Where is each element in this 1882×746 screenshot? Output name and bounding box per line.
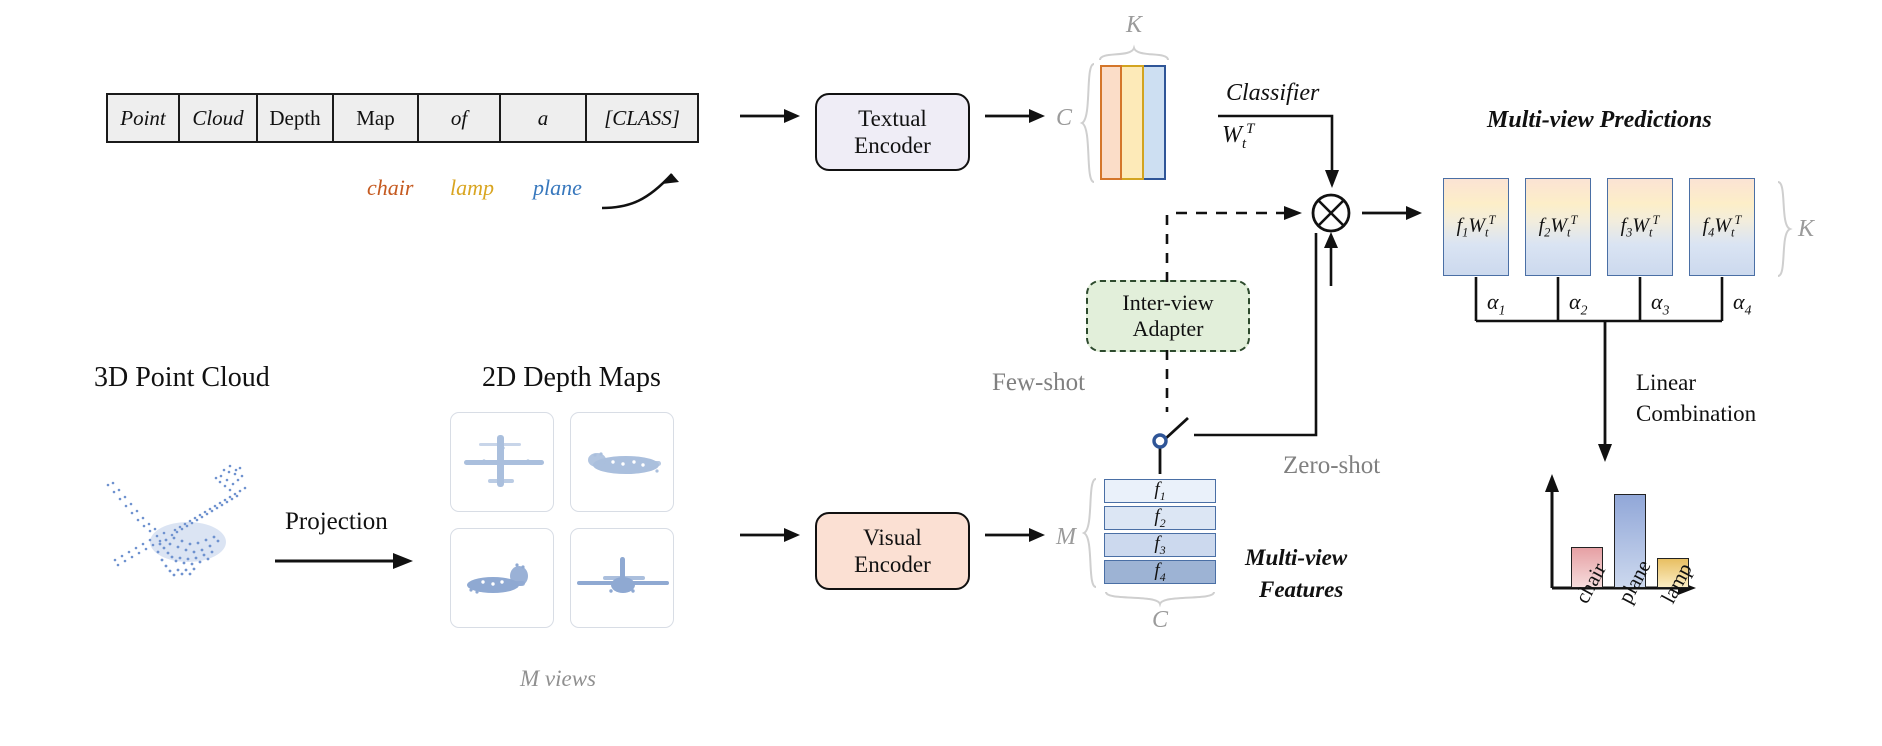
visual-encoder-label-line1: Visual: [863, 524, 922, 551]
classifier-column-chair: [1100, 65, 1122, 180]
predictions-dim-label: K: [1798, 216, 1814, 243]
multiview-features-label-line2: Features: [1259, 577, 1343, 603]
class-word-chair[interactable]: chair: [367, 175, 413, 201]
alpha-label-2: α2: [1569, 289, 1587, 318]
prediction-box-3[interactable]: f3WtT: [1607, 178, 1673, 276]
classifier-dim-rows-label: C: [1056, 105, 1072, 132]
classifier-rows-brace-icon: [1080, 62, 1096, 184]
classifier-column-plane: [1144, 65, 1166, 180]
final-prediction-bar-chart: chair plane lamp: [1540, 470, 1720, 605]
mode-switch-toggle-icon[interactable]: [1144, 412, 1194, 474]
depth-maps-heading: 2D Depth Maps: [482, 362, 661, 394]
feature-row-4: f4: [1104, 560, 1216, 584]
depth-map-card-oblique-view[interactable]: [450, 528, 554, 628]
visual-encoder-label-line2: Encoder: [854, 551, 931, 578]
multiview-predictions-heading: Multi-view Predictions: [1487, 107, 1712, 134]
depth-map-grid: [450, 412, 674, 628]
prompt-token-0[interactable]: Point: [108, 95, 180, 141]
visual-encoder-box[interactable]: Visual Encoder: [815, 512, 970, 590]
adapter-dashed-down-line-icon: [1162, 350, 1172, 416]
arrow-textual-encoder-to-classifier-icon: [985, 108, 1047, 124]
depth-map-card-side-view[interactable]: [570, 412, 674, 512]
alpha-label-4: α4: [1733, 289, 1751, 318]
multiview-prediction-row: f1WtT f2WtT f3WtT f4WtT: [1443, 178, 1755, 276]
multiview-feature-stack[interactable]: f1 f2 f3 f4: [1104, 479, 1216, 584]
few-shot-label: Few-shot: [992, 369, 1085, 397]
classifier-dim-cols-label: K: [1126, 12, 1142, 39]
depth-map-side-view-icon: [571, 413, 674, 512]
alpha-label-1: α1: [1487, 289, 1505, 318]
features-cols-brace-icon: [1104, 590, 1216, 606]
features-dim-cols-label: C: [1152, 607, 1168, 634]
feature-row-2: f2: [1104, 506, 1216, 530]
depth-map-card-top-view[interactable]: [450, 412, 554, 512]
prediction-box-1-label: f1WtT: [1457, 213, 1496, 241]
classifier-cols-brace-icon: [1098, 46, 1170, 62]
arrow-visual-encoder-to-features-icon: [985, 527, 1047, 543]
arrow-projection-icon: [275, 552, 415, 570]
textual-encoder-label-line1: Textual: [858, 105, 927, 132]
projection-label: Projection: [285, 508, 388, 536]
prediction-box-2[interactable]: f2WtT: [1525, 178, 1591, 276]
tensor-product-operator-icon: [1308, 190, 1354, 236]
prediction-box-3-label: f3WtT: [1621, 213, 1660, 241]
depth-map-oblique-view-icon: [451, 529, 554, 628]
feature-row-1: f1: [1104, 479, 1216, 503]
textual-encoder-label-line2: Encoder: [854, 132, 931, 159]
arrow-depthmaps-to-visual-encoder-icon: [740, 527, 802, 543]
adapter-dashed-up-line-icon: [1162, 208, 1172, 284]
feature-row-3-label: f3: [1154, 533, 1165, 558]
feature-row-2-label: f2: [1154, 506, 1165, 531]
point-cloud-visual-icon: [70, 440, 290, 600]
class-word-lamp[interactable]: lamp: [450, 175, 494, 201]
features-rows-brace-icon: [1082, 477, 1098, 589]
figure-canvas: Point Cloud Depth Map of a [CLASS] chair…: [0, 0, 1882, 746]
prompt-token-4[interactable]: of: [419, 95, 501, 141]
class-word-plane[interactable]: plane: [533, 175, 582, 201]
feature-row-1-label: f1: [1154, 479, 1165, 504]
depth-map-card-front-view[interactable]: [570, 528, 674, 628]
arrow-operator-to-predictions-icon: [1362, 205, 1424, 221]
prompt-token-table: Point Cloud Depth Map of a [CLASS]: [106, 93, 699, 143]
predictions-dim-brace-icon: [1776, 180, 1792, 278]
linear-combination-label-line2: Combination: [1636, 401, 1756, 427]
prompt-token-class[interactable]: [CLASS]: [587, 95, 697, 141]
depth-map-top-view-icon: [451, 413, 554, 512]
multiview-features-label-line1: Multi-view: [1245, 545, 1347, 571]
depth-maps-caption: M views: [520, 666, 596, 692]
linear-combination-label-line1: Linear: [1636, 370, 1696, 396]
features-dim-rows-label: M: [1056, 524, 1076, 551]
prediction-box-4[interactable]: f4WtT: [1689, 178, 1755, 276]
class-to-token-arrow-icon: [600, 150, 710, 212]
prompt-token-3[interactable]: Map: [334, 95, 419, 141]
prompt-token-1[interactable]: Cloud: [180, 95, 258, 141]
zero-shot-label: Zero-shot: [1283, 452, 1380, 480]
arrow-adapter-to-operator-icon: [1176, 205, 1306, 221]
textual-encoder-box[interactable]: Textual Encoder: [815, 93, 970, 171]
alpha-label-3: α3: [1651, 289, 1669, 318]
feature-row-4-label: f4: [1154, 560, 1165, 585]
adapter-label-line2: Adapter: [1133, 316, 1204, 342]
feature-row-3: f3: [1104, 533, 1216, 557]
point-cloud-heading: 3D Point Cloud: [94, 362, 270, 394]
classifier-to-operator-arrow-icon: [1216, 112, 1356, 194]
prompt-token-2[interactable]: Depth: [258, 95, 334, 141]
classifier-column-lamp: [1122, 65, 1144, 180]
classifier-label: Classifier: [1226, 80, 1319, 107]
classifier-weight-matrix[interactable]: [1100, 65, 1166, 180]
arrow-prompt-to-textual-encoder-icon: [740, 108, 802, 124]
prompt-token-5[interactable]: a: [501, 95, 587, 141]
prediction-box-2-label: f2WtT: [1539, 213, 1578, 241]
prediction-box-4-label: f4WtT: [1703, 213, 1742, 241]
linear-combination-arrow-icon: [1596, 320, 1614, 462]
prediction-box-1[interactable]: f1WtT: [1443, 178, 1509, 276]
depth-map-front-view-icon: [571, 529, 674, 628]
zeroshot-path-icon: [1194, 233, 1330, 439]
